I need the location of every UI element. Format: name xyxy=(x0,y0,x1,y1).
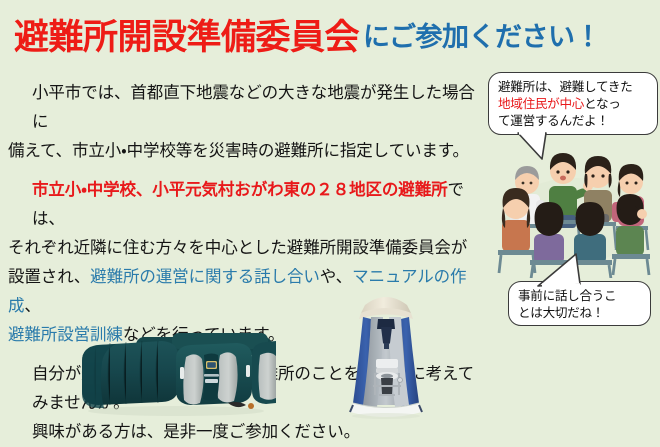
paragraph-3-line-2: 興味がある方は、是非一度ご参加ください。 xyxy=(8,417,490,446)
bubble-top-line-3: て運営するんだよ！ xyxy=(498,112,649,129)
poster-title: 避難所開設準備委員会にご参加ください！ xyxy=(14,12,654,64)
paragraph-1-line-1: 小平市では、首都直下地震などの大きな地震が発生した場合に xyxy=(8,78,490,136)
paragraph-1-line-2: 備えて、市立小・中学校等を災害時の避難所に指定しています。 xyxy=(8,136,490,165)
speech-bubble-top-tail xyxy=(512,131,560,163)
paragraph-2-line-3-e: 、 xyxy=(24,296,40,315)
speech-bubble-bottom-tail xyxy=(528,252,588,288)
paragraph-2-line-3-a: 設置され、 xyxy=(8,267,90,286)
title-sub-text: にご参加ください！ xyxy=(363,22,601,53)
poster-canvas: 避難所開設準備委員会にご参加ください！ 小平市では、首都直下地震などの大きな地震… xyxy=(0,0,660,420)
bubble-top-line-2: 地域住民が中心となっ xyxy=(498,95,649,112)
bubble-bottom-line-2: とは大切だね！ xyxy=(518,304,642,321)
paragraph-2-line-1: 市立小・中学校、小平元気村おがわ東の２８地区の避難所では、 xyxy=(8,175,490,233)
paragraph-2-line-2: それぞれ近隣に住む方々を中心とした避難所開設準備委員会が xyxy=(8,233,490,262)
highlight-operation-meeting: 避難所の運営に関する話し合い xyxy=(90,267,320,286)
highlight-target-shelters: 市立小・中学校、小平元気村おがわ東の２８地区の避難所 xyxy=(32,180,448,199)
title-main-text: 避難所開設準備委員会 xyxy=(14,18,359,58)
bubble-top-highlight: 地域住民が中心 xyxy=(498,96,584,111)
bubble-top-line-1: 避難所は、避難してきた xyxy=(498,78,649,95)
bubble-bottom-line-1: 事前に話し合うこ xyxy=(518,287,642,304)
blue-portable-toilet-tent-photo xyxy=(345,283,427,420)
green-shelter-tent-photo xyxy=(76,327,276,417)
paragraph-1: 小平市では、首都直下地震などの大きな地震が発生した場合に 備えて、市立小・中学校… xyxy=(8,78,490,165)
speech-bubble-top: 避難所は、避難してきた 地域住民が中心となっ て運営するんだよ！ xyxy=(488,72,658,135)
bubble-top-line-2-tail: となっ xyxy=(584,96,621,111)
